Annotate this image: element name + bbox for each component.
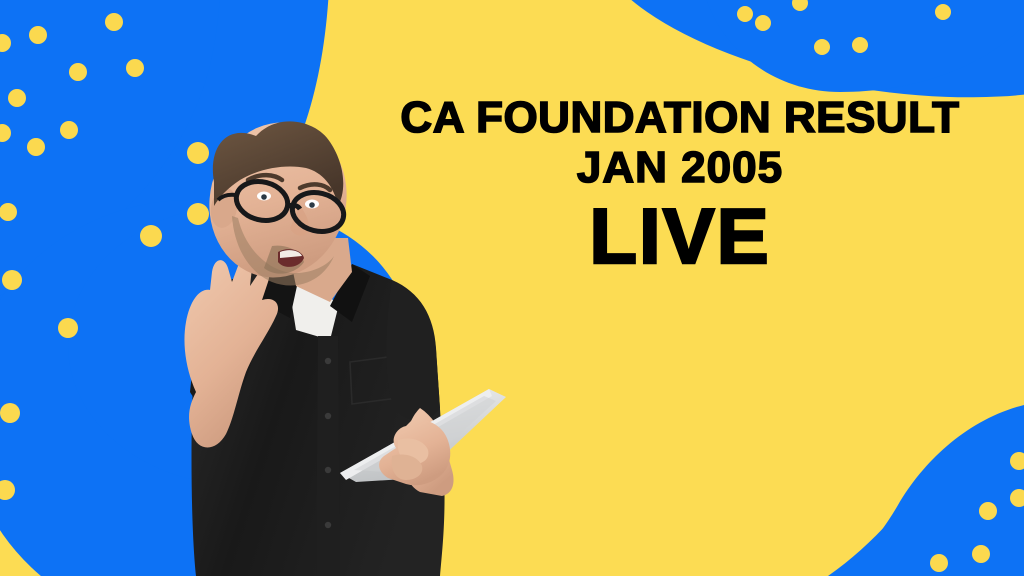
dot [814,39,830,55]
dot [126,59,144,77]
dot [29,26,47,44]
headline-line-3: LIVE [355,194,1005,278]
dot [979,502,997,520]
dot [935,4,951,20]
headline-block: CA FOUNDATION RESULT JAN 2005 LIVE [355,94,1005,278]
dot [58,318,78,338]
decorative-background [0,0,1024,576]
dot [187,142,209,164]
dot [8,89,26,107]
dot [319,203,341,225]
dot [0,403,20,423]
dot [187,203,209,225]
dot [737,6,753,22]
dot [755,15,771,31]
dot [60,121,78,139]
dot [972,545,990,563]
dot [27,138,45,156]
headline-line-2: JAN 2005 [355,142,1005,194]
headline-line-1: CA FOUNDATION RESULT [355,94,1005,142]
dot [852,37,868,53]
dot [2,270,22,290]
dot [930,554,948,572]
dot [105,13,123,31]
dot [69,63,87,81]
promo-banner: CA FOUNDATION RESULT JAN 2005 LIVE [0,0,1024,576]
dot [140,225,162,247]
